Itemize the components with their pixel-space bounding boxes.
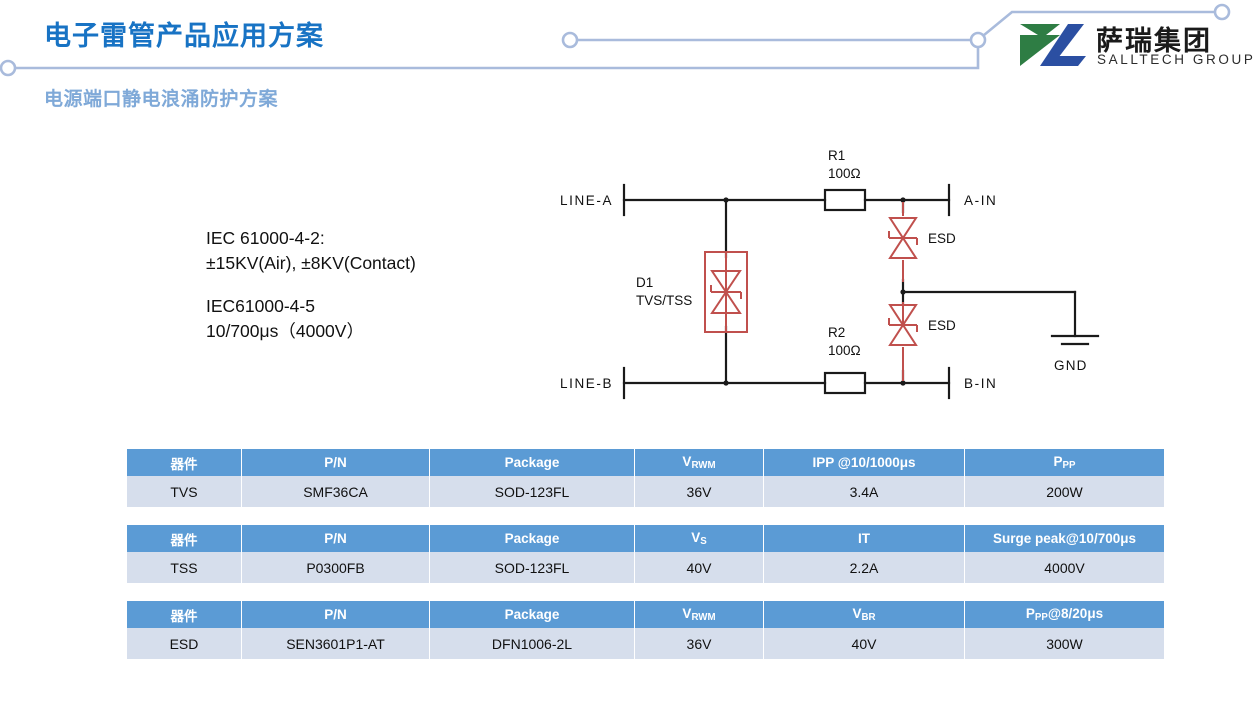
surge-standard-line: IEC61000-4-5 (206, 294, 416, 319)
resistor-r2-body (825, 373, 865, 393)
label-b-in: B-IN (964, 376, 997, 391)
td-package: DFN1006-2L (430, 628, 634, 659)
label-line-b: LINE-B (560, 376, 613, 391)
td-surge-peak: 4000V (965, 552, 1164, 583)
tss-table: 器件 P/N Package VS IT Surge peak@10/700μs… (126, 525, 1165, 583)
table-row: TSS P0300FB SOD-123FL 40V 2.2A 4000V (127, 552, 1164, 583)
label-r1-value: 100Ω (828, 166, 861, 181)
th-it: IT (764, 525, 964, 552)
standards-text-block: IEC 61000-4-2: ±15KV(Air), ±8KV(Contact)… (206, 226, 416, 344)
th-ipp: IPP @10/1000μs (764, 449, 964, 476)
surge-level-line: 10/700μs（4000V） (206, 319, 416, 344)
table-header-row: 器件 P/N Package VRWM VBR PPP@8/20μs (127, 601, 1164, 628)
td-vs: 40V (635, 552, 763, 583)
th-device: 器件 (127, 449, 241, 476)
td-vbr: 40V (764, 628, 964, 659)
label-d1-type: TVS/TSS (636, 293, 692, 308)
th-package: Package (430, 449, 634, 476)
label-gnd: GND (1054, 358, 1088, 373)
table-header-row: 器件 P/N Package VRWM IPP @10/1000μs PPP (127, 449, 1164, 476)
td-vrwm: 36V (635, 628, 763, 659)
th-ppp-820: PPP@8/20μs (965, 601, 1164, 628)
page-title: 电子雷管产品应用方案 (44, 14, 324, 53)
deco-node-mid (563, 33, 577, 47)
th-pn: P/N (242, 601, 429, 628)
td-package: SOD-123FL (430, 476, 634, 507)
tvs-table: 器件 P/N Package VRWM IPP @10/1000μs PPP T… (126, 449, 1165, 507)
td-package: SOD-123FL (430, 552, 634, 583)
td-pn: P0300FB (242, 552, 429, 583)
th-package: Package (430, 601, 634, 628)
esd-diode-top (889, 202, 917, 282)
table-row: ESD SEN3601P1-AT DFN1006-2L 36V 40V 300W (127, 628, 1164, 659)
label-r2-ref: R2 (828, 325, 845, 340)
label-line-a: LINE-A (560, 193, 613, 208)
td-device: TSS (127, 552, 241, 583)
label-esd-bottom: ESD (928, 318, 956, 333)
td-vrwm: 36V (635, 476, 763, 507)
esd-table: 器件 P/N Package VRWM VBR PPP@8/20μs ESD S… (126, 601, 1165, 659)
th-vrwm: VRWM (635, 449, 763, 476)
th-package: Package (430, 525, 634, 552)
page-subtitle: 电源端口静电浪涌防护方案 (44, 84, 278, 111)
th-device: 器件 (127, 601, 241, 628)
table-row: TVS SMF36CA SOD-123FL 36V 3.4A 200W (127, 476, 1164, 507)
logo-name-en: SALLTECH GROUP (1097, 52, 1255, 67)
esd-diode-bottom (889, 302, 917, 381)
deco-node-left (1, 61, 15, 75)
th-vbr: VBR (764, 601, 964, 628)
td-ppp: 200W (965, 476, 1164, 507)
td-ipp: 3.4A (764, 476, 964, 507)
th-surge-peak: Surge peak@10/700μs (965, 525, 1164, 552)
td-device: TVS (127, 476, 241, 507)
td-pn: SEN3601P1-AT (242, 628, 429, 659)
td-device: ESD (127, 628, 241, 659)
resistor-r1-body (825, 190, 865, 210)
company-logo: 萨瑞集团 SALLTECH GROUP (1016, 22, 1242, 70)
th-vrwm: VRWM (635, 601, 763, 628)
deco-node-right (971, 33, 985, 47)
td-pn: SMF36CA (242, 476, 429, 507)
junction-dots (723, 197, 905, 385)
table-header-row: 器件 P/N Package VS IT Surge peak@10/700μs (127, 525, 1164, 552)
esd-standard-line: IEC 61000-4-2: (206, 226, 416, 251)
esd-level-line: ±15KV(Air), ±8KV(Contact) (206, 251, 416, 276)
td-it: 2.2A (764, 552, 964, 583)
label-r1-ref: R1 (828, 148, 845, 163)
td-ppp-820: 300W (965, 628, 1164, 659)
circuit-diagram: LINE-A LINE-B A-IN B-IN GND D1 TVS/TSS R… (540, 140, 1120, 420)
deco-node-topright (1215, 5, 1229, 19)
tvs-tss-device (705, 252, 747, 332)
label-esd-top: ESD (928, 231, 956, 246)
label-d1-ref: D1 (636, 275, 653, 290)
label-a-in: A-IN (964, 193, 997, 208)
th-device: 器件 (127, 525, 241, 552)
label-r2-value: 100Ω (828, 343, 861, 358)
logo-mark-icon (1016, 22, 1090, 68)
th-pn: P/N (242, 525, 429, 552)
th-pn: P/N (242, 449, 429, 476)
spec-spacer (206, 276, 416, 294)
th-vs: VS (635, 525, 763, 552)
th-ppp: PPP (965, 449, 1164, 476)
